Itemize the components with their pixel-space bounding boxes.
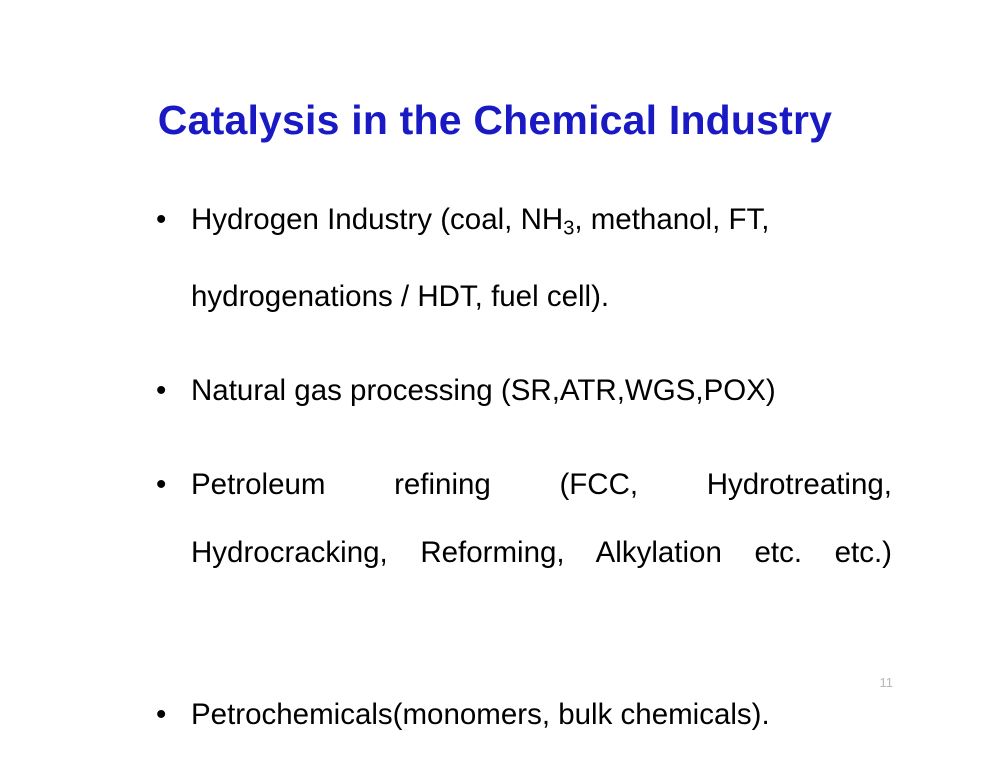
list-item-text: Petroleum refining (FCC, Hydrotreating, …: [191, 451, 892, 655]
bullet-point-icon: •: [156, 681, 168, 749]
list-item-text: Natural gas processing (SR,ATR,WGS,POX): [191, 357, 892, 425]
subscript-3: 3: [563, 218, 574, 240]
presentation-slide: Catalysis in the Chemical Industry • Hyd…: [0, 0, 990, 765]
bullet-list: • Hydrogen Industry (coal, NH3, methanol…: [152, 186, 892, 749]
list-item: • Natural gas processing (SR,ATR,WGS,POX…: [152, 357, 892, 425]
list-item-text-part-1: Hydrogen Industry (coal, NH: [191, 203, 563, 236]
slide-page-number: 11: [880, 676, 894, 689]
list-item-text: Hydrogen Industry (coal, NH3, methanol, …: [191, 186, 892, 331]
list-item: • Petroleum refining (FCC, Hydrotreating…: [152, 451, 892, 655]
list-item: • Hydrogen Industry (coal, NH3, methanol…: [152, 186, 892, 331]
page-title: Catalysis in the Chemical Industry: [0, 98, 990, 142]
bullet-point-icon: •: [156, 186, 168, 254]
bullet-point-icon: •: [156, 451, 168, 519]
list-item: • Petrochemicals(monomers, bulk chemical…: [152, 681, 892, 749]
list-item-text-justified: Petroleum refining (FCC, Hydrotreating, …: [191, 451, 892, 655]
list-item-text: Petrochemicals(monomers, bulk chemicals)…: [191, 681, 892, 749]
bullet-point-icon: •: [156, 357, 168, 425]
